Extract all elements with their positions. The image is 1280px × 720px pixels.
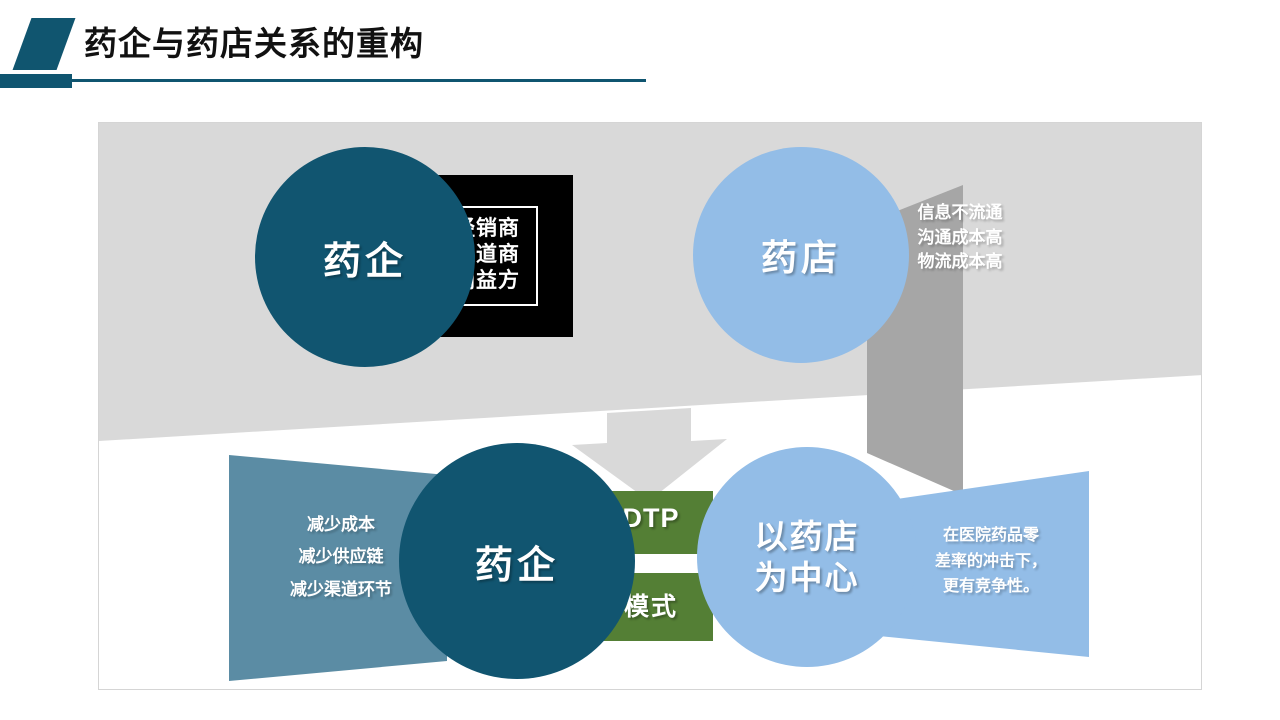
diagram-frame: 各级经销商 各级渠道商 各级利益方 药企 药店 信息不流通 沟通成本高 物流成本… <box>98 122 1202 690</box>
slide-root: 药企与药店关系的重构 各级经销商 各级渠道商 各 <box>0 0 1280 720</box>
circle-pharma-bottom-label: 药企 <box>475 534 559 589</box>
title-accent-mark <box>13 18 76 70</box>
title-rule-block <box>0 74 72 88</box>
result-line-2: 差率的冲击下， <box>905 549 1077 575</box>
circle-drugstore-top[interactable]: 药店 <box>693 147 909 363</box>
problem-line-2: 沟通成本高 <box>885 226 1035 251</box>
page-title: 药企与药店关系的重构 <box>84 18 424 70</box>
result-line-3: 更有竞争性。 <box>905 574 1077 600</box>
circle-center-line-2: 为中心 <box>755 557 860 598</box>
circle-pharma-top-label: 药企 <box>323 230 407 285</box>
circle-center-line-1: 以药店 <box>755 516 860 557</box>
circle-pharma-bottom[interactable]: 药企 <box>399 443 635 679</box>
circle-pharma-top[interactable]: 药企 <box>255 147 475 367</box>
title-rule-line <box>72 79 646 82</box>
result-funnel-text: 在医院药品零 差率的冲击下， 更有竞争性。 <box>905 523 1077 600</box>
circle-drugstore-top-label: 药店 <box>761 229 841 281</box>
problem-line-3: 物流成本高 <box>885 250 1035 275</box>
result-line-1: 在医院药品零 <box>905 523 1077 549</box>
problem-line-1: 信息不流通 <box>885 201 1035 226</box>
circle-drugstore-center[interactable]: 以药店 为中心 <box>697 447 917 667</box>
problem-funnel-text: 信息不流通 沟通成本高 物流成本高 <box>885 201 1035 275</box>
